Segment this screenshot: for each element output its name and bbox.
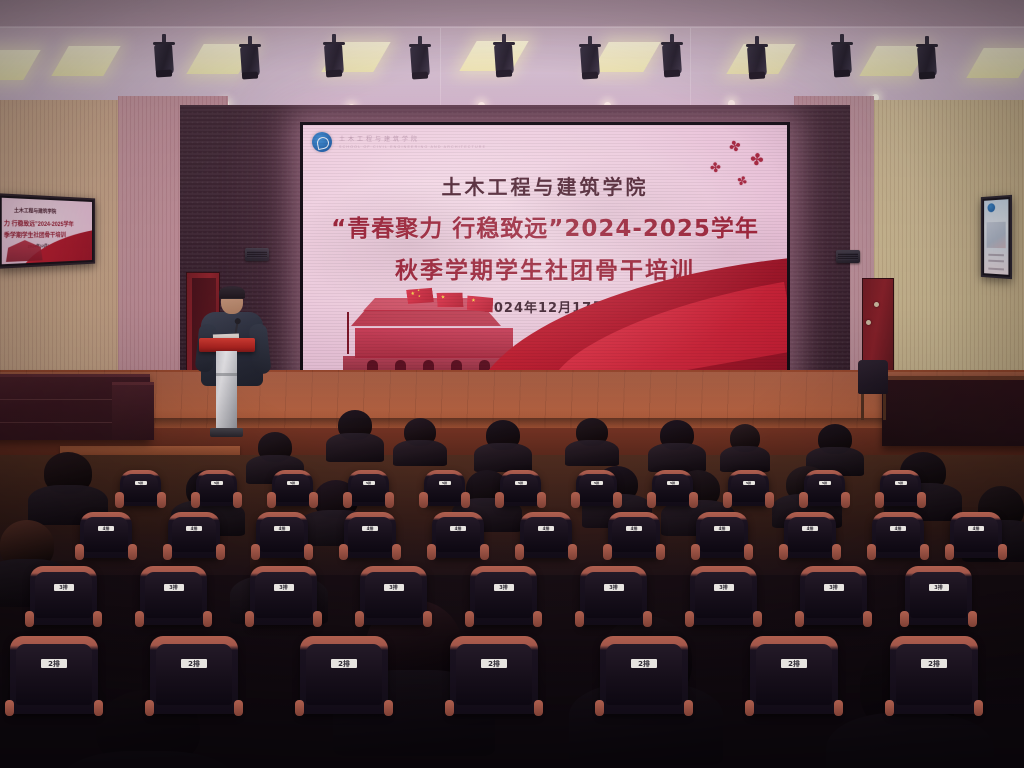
university-logo-icon [312, 132, 332, 152]
seat-armrest [867, 544, 876, 560]
auditorium-seat[interactable]: 5排 [424, 470, 465, 506]
seat-armrest [461, 492, 470, 508]
seat-number-plate: 4排 [802, 526, 818, 531]
seat-number-plate: 3排 [54, 584, 74, 591]
seat-armrest [392, 544, 401, 560]
stage-spotlight [915, 36, 939, 80]
seat-armrest [537, 492, 546, 508]
seat-armrest [568, 544, 577, 560]
bird-icon: ✤ [749, 152, 765, 170]
screen-logo-subtext: SCHOOL OF CIVIL ENGINEERING AND ARCHITEC… [339, 145, 486, 149]
audience-shoulders [565, 440, 619, 467]
auditorium-seat[interactable]: 3排 [470, 566, 537, 625]
seat-armrest [745, 700, 754, 716]
seat-armrest [295, 700, 304, 716]
seat-armrest [163, 544, 172, 560]
auditorium-seat[interactable]: 3排 [580, 566, 647, 625]
seat-armrest [647, 492, 656, 508]
audience-shoulders [826, 713, 994, 768]
monitor-right-logo-icon [987, 203, 995, 212]
seat-armrest [343, 492, 352, 508]
seat-cushion [348, 517, 393, 553]
seat-armrest [515, 544, 524, 560]
auditorium-seat[interactable]: 5排 [196, 470, 237, 506]
seat-armrest [465, 611, 474, 627]
audience-shoulders [648, 443, 705, 472]
seat-armrest [656, 544, 665, 560]
seat-number-plate: 3排 [164, 584, 184, 591]
seat-cushion [805, 572, 863, 618]
seat-cushion [35, 572, 93, 618]
seat-armrest [128, 544, 137, 560]
seat-cushion [910, 572, 968, 618]
seat-armrest [5, 700, 14, 716]
seat-number-plate: 4排 [538, 526, 554, 531]
seat-armrest [309, 492, 318, 508]
seat-cushion [260, 517, 305, 553]
auditorium-seat[interactable]: 5排 [348, 470, 389, 506]
seat-armrest [684, 700, 693, 716]
auditorium-seat[interactable]: 5排 [120, 470, 161, 506]
seat-armrest [534, 700, 543, 716]
flag-icon: ★ [467, 296, 494, 313]
stage-cabinet-right [882, 376, 1024, 446]
seat-number-plate: 2排 [331, 659, 357, 668]
auditorium-seat[interactable]: 2排 [890, 636, 978, 714]
seat-armrest [251, 544, 260, 560]
podium-column [216, 351, 237, 429]
seat-armrest [419, 492, 428, 508]
seat-cushion [145, 572, 203, 618]
seat-number-plate: 2排 [631, 659, 657, 668]
bird-icon: ✤ [727, 138, 742, 155]
seat-armrest [753, 611, 762, 627]
audience-shoulders [720, 446, 770, 473]
stage-spotlight [408, 36, 432, 80]
seat-armrest [384, 700, 393, 716]
seat-number-plate: 2排 [921, 659, 947, 668]
seat-cushion [788, 517, 833, 553]
seat-armrest [779, 544, 788, 560]
seat-cushion [365, 572, 423, 618]
side-monitor-right [981, 195, 1012, 279]
seat-cushion [883, 474, 918, 502]
seat-armrest [863, 611, 872, 627]
seat-number-plate: 3排 [714, 584, 734, 591]
seat-armrest [25, 611, 34, 627]
seat-armrest [998, 544, 1007, 560]
auditorium-seat[interactable]: 4排 [784, 512, 836, 558]
seat-cushion [655, 474, 690, 502]
seat-armrest [157, 492, 166, 508]
seat-armrest [875, 492, 884, 508]
auditorium-seat[interactable]: 4排 [696, 512, 748, 558]
seat-number-plate: 4排 [450, 526, 466, 531]
auditorium-seat[interactable]: 5排 [804, 470, 845, 506]
auditorium-photo: 土木工程与建筑学院 SCHOOL OF CIVIL ENGINEERING AN… [0, 0, 1024, 768]
seat-number-plate: 3排 [384, 584, 404, 591]
monitor-right-image [987, 222, 1006, 248]
auditorium-seat[interactable]: 2排 [150, 636, 238, 714]
seat-armrest [145, 700, 154, 716]
auditorium-seat[interactable]: 3排 [140, 566, 207, 625]
podium-top [199, 338, 255, 352]
auditorium-seat[interactable]: 3排 [690, 566, 757, 625]
seat-armrest [115, 492, 124, 508]
seat-cushion [436, 517, 481, 553]
seat-cushion [351, 474, 386, 502]
seat-cushion [16, 644, 92, 705]
seat-number-plate: 5排 [743, 481, 755, 485]
audience-shoulders [61, 751, 236, 768]
auditorium-seat[interactable]: 2排 [750, 636, 838, 714]
stage-chair [858, 360, 892, 422]
seat-armrest [974, 700, 983, 716]
seat-armrest [355, 611, 364, 627]
auditorium-seat[interactable]: 4排 [520, 512, 572, 558]
auditorium-seat[interactable]: 2排 [600, 636, 688, 714]
seat-cushion [156, 644, 232, 705]
auditorium-seat[interactable]: 4排 [872, 512, 924, 558]
seat-armrest [94, 700, 103, 716]
seat-armrest [795, 611, 804, 627]
auditorium-seat[interactable]: 3排 [800, 566, 867, 625]
seat-armrest [445, 700, 454, 716]
led-screen: 土木工程与建筑学院 SCHOOL OF CIVIL ENGINEERING AN… [303, 125, 787, 381]
seat-armrest [613, 492, 622, 508]
seat-armrest [339, 544, 348, 560]
seat-number-plate: 2排 [781, 659, 807, 668]
seat-cushion [172, 517, 217, 553]
seat-armrest [385, 492, 394, 508]
seat-number-plate: 4排 [362, 526, 378, 531]
side-monitor-left: 土木工程与建筑学院 力 行稳致远”2024-2025学年 季学期学生社团骨干培训… [0, 193, 95, 269]
door-handle-icon [874, 302, 879, 307]
seat-armrest [427, 544, 436, 560]
seat-number-plate: 4排 [890, 526, 906, 531]
auditorium-seat[interactable]: 3排 [905, 566, 972, 625]
auditorium-seat[interactable]: 4排 [950, 512, 1002, 558]
auditorium-seat[interactable]: 4排 [168, 512, 220, 558]
seat-armrest [643, 611, 652, 627]
seat-armrest [135, 611, 144, 627]
seat-number-plate: 5排 [819, 481, 831, 485]
audience-shoulders [474, 443, 531, 472]
auditorium-seat[interactable]: 4排 [344, 512, 396, 558]
seat-cushion [954, 517, 999, 553]
auditorium-seat[interactable]: 5排 [652, 470, 693, 506]
stage-spotlight [745, 36, 769, 80]
seat-number-plate: 2排 [181, 659, 207, 668]
seat-armrest [191, 492, 200, 508]
stage-spotlight [152, 34, 176, 78]
monitor-left-line2: 力 行稳致远”2024-2025学年 [4, 218, 74, 228]
stage-spotlight [238, 36, 262, 80]
seat-armrest [691, 544, 700, 560]
stage-spotlight [322, 34, 346, 78]
seat-armrest [423, 611, 432, 627]
seat-number-plate: 3排 [494, 584, 514, 591]
audience-shoulders [393, 440, 447, 467]
seat-armrest [313, 611, 322, 627]
seat-armrest [945, 544, 954, 560]
seat-armrest [689, 492, 698, 508]
seat-armrest [885, 700, 894, 716]
seat-armrest [575, 611, 584, 627]
seat-cushion [427, 474, 462, 502]
seat-armrest [245, 611, 254, 627]
seat-armrest [75, 544, 84, 560]
seat-number-plate: 4排 [274, 526, 290, 531]
auditorium-seat[interactable]: 5排 [272, 470, 313, 506]
wall-speaker-left [245, 248, 269, 261]
seat-armrest [571, 492, 580, 508]
seat-armrest [233, 492, 242, 508]
screen-logo-text: 土木工程与建筑学院 [339, 134, 420, 143]
seat-armrest [685, 611, 694, 627]
seat-armrest [832, 544, 841, 560]
auditorium-seat[interactable]: 5排 [576, 470, 617, 506]
seat-number-plate: 5排 [287, 481, 299, 485]
seat-number-plate: 5排 [515, 481, 527, 485]
seat-cushion [731, 474, 766, 502]
seat-number-plate: 4排 [98, 526, 114, 531]
seat-armrest [533, 611, 542, 627]
seat-armrest [216, 544, 225, 560]
stage-desk-left-side [112, 382, 154, 440]
seat-cushion [199, 474, 234, 502]
seat-armrest [920, 544, 929, 560]
led-screen-frame: 土木工程与建筑学院 SCHOOL OF CIVIL ENGINEERING AN… [300, 122, 790, 384]
wall-speaker-right [836, 250, 860, 263]
seat-number-plate: 3排 [824, 584, 844, 591]
auditorium-seat[interactable]: 4排 [432, 512, 484, 558]
seat-number-plate: 3排 [929, 584, 949, 591]
seat-number-plate: 4排 [714, 526, 730, 531]
seat-number-plate: 3排 [604, 584, 624, 591]
screen-line-school: 土木工程与建筑学院 [303, 171, 787, 200]
seat-cushion [896, 644, 972, 705]
auditorium-seat[interactable]: 5排 [500, 470, 541, 506]
seat-number-plate: 4排 [626, 526, 642, 531]
seat-cushion [503, 474, 538, 502]
seat-cushion [876, 517, 921, 553]
auditorium-seat[interactable]: 3排 [250, 566, 317, 625]
screen-title-block: 土木工程与建筑学院 “青春聚力 行稳致远”2024-2025学年 秋季学期学生社… [303, 171, 787, 285]
monitor-left-line3: 季学期学生社团骨干培训 [4, 230, 66, 240]
seat-armrest [93, 611, 102, 627]
seat-armrest [304, 544, 313, 560]
seat-number-plate: 5排 [439, 481, 451, 485]
seat-armrest [841, 492, 850, 508]
stage-spotlight [578, 36, 602, 80]
ceiling-seam [0, 27, 1024, 28]
auditorium-seat[interactable]: 5排 [728, 470, 769, 506]
seat-number-plate: 2排 [41, 659, 67, 668]
seat-armrest [603, 544, 612, 560]
seat-number-plate: 5排 [667, 481, 679, 485]
seat-cushion [612, 517, 657, 553]
auditorium-seat[interactable]: 3排 [30, 566, 97, 625]
seat-number-plate: 2排 [481, 659, 507, 668]
auditorium-seat[interactable]: 4排 [608, 512, 660, 558]
screen-line-theme: “青春聚力 行稳致远”2024-2025学年 [303, 209, 787, 243]
seat-cushion [807, 474, 842, 502]
seat-armrest [723, 492, 732, 508]
seat-number-plate: 4排 [968, 526, 984, 531]
seat-cushion [275, 474, 310, 502]
auditorium-seat[interactable]: 4排 [256, 512, 308, 558]
auditorium-seat[interactable]: 4排 [80, 512, 132, 558]
seat-number-plate: 4排 [186, 526, 202, 531]
seat-armrest [900, 611, 909, 627]
seat-armrest [917, 492, 926, 508]
flag-icon: ★ [436, 291, 463, 309]
seat-cushion [123, 474, 158, 502]
auditorium-seat[interactable]: 5排 [880, 470, 921, 506]
seat-cushion [585, 572, 643, 618]
seat-cushion [456, 644, 532, 705]
seat-armrest [744, 544, 753, 560]
auditorium-seat[interactable]: 2排 [10, 636, 98, 714]
seat-cushion [84, 517, 129, 553]
seat-number-plate: 3排 [274, 584, 294, 591]
seat-number-plate: 5排 [363, 481, 375, 485]
stage-spotlight [830, 34, 854, 78]
seat-armrest [267, 492, 276, 508]
seat-cushion [524, 517, 569, 553]
seat-cushion [579, 474, 614, 502]
glasses-icon [222, 298, 242, 303]
monitor-left-line1: 土木工程与建筑学院 [14, 207, 56, 215]
audience-shoulders [326, 433, 383, 462]
stage-spotlight [492, 34, 516, 78]
stage-spotlight [660, 34, 684, 78]
seat-armrest [834, 700, 843, 716]
seat-armrest [234, 700, 243, 716]
seat-armrest [595, 700, 604, 716]
seat-armrest [203, 611, 212, 627]
seat-number-plate: 5排 [591, 481, 603, 485]
seat-number-plate: 5排 [135, 481, 147, 485]
seat-cushion [255, 572, 313, 618]
seat-armrest [765, 492, 774, 508]
auditorium-seat[interactable]: 2排 [450, 636, 538, 714]
ceiling-soffit [0, 0, 1024, 26]
seat-cushion [606, 644, 682, 705]
seat-cushion [475, 572, 533, 618]
seat-armrest [968, 611, 977, 627]
seat-cushion [306, 644, 382, 705]
podium [199, 338, 255, 442]
auditorium-seat[interactable]: 2排 [300, 636, 388, 714]
seat-cushion [756, 644, 832, 705]
seat-armrest [495, 492, 504, 508]
seat-number-plate: 5排 [895, 481, 907, 485]
seat-armrest [480, 544, 489, 560]
podium-base [210, 428, 243, 437]
seat-cushion [700, 517, 745, 553]
seat-armrest [799, 492, 808, 508]
seat-number-plate: 5排 [211, 481, 223, 485]
door-handle-icon [866, 320, 871, 325]
seat-cushion [695, 572, 753, 618]
auditorium-seat[interactable]: 3排 [360, 566, 427, 625]
